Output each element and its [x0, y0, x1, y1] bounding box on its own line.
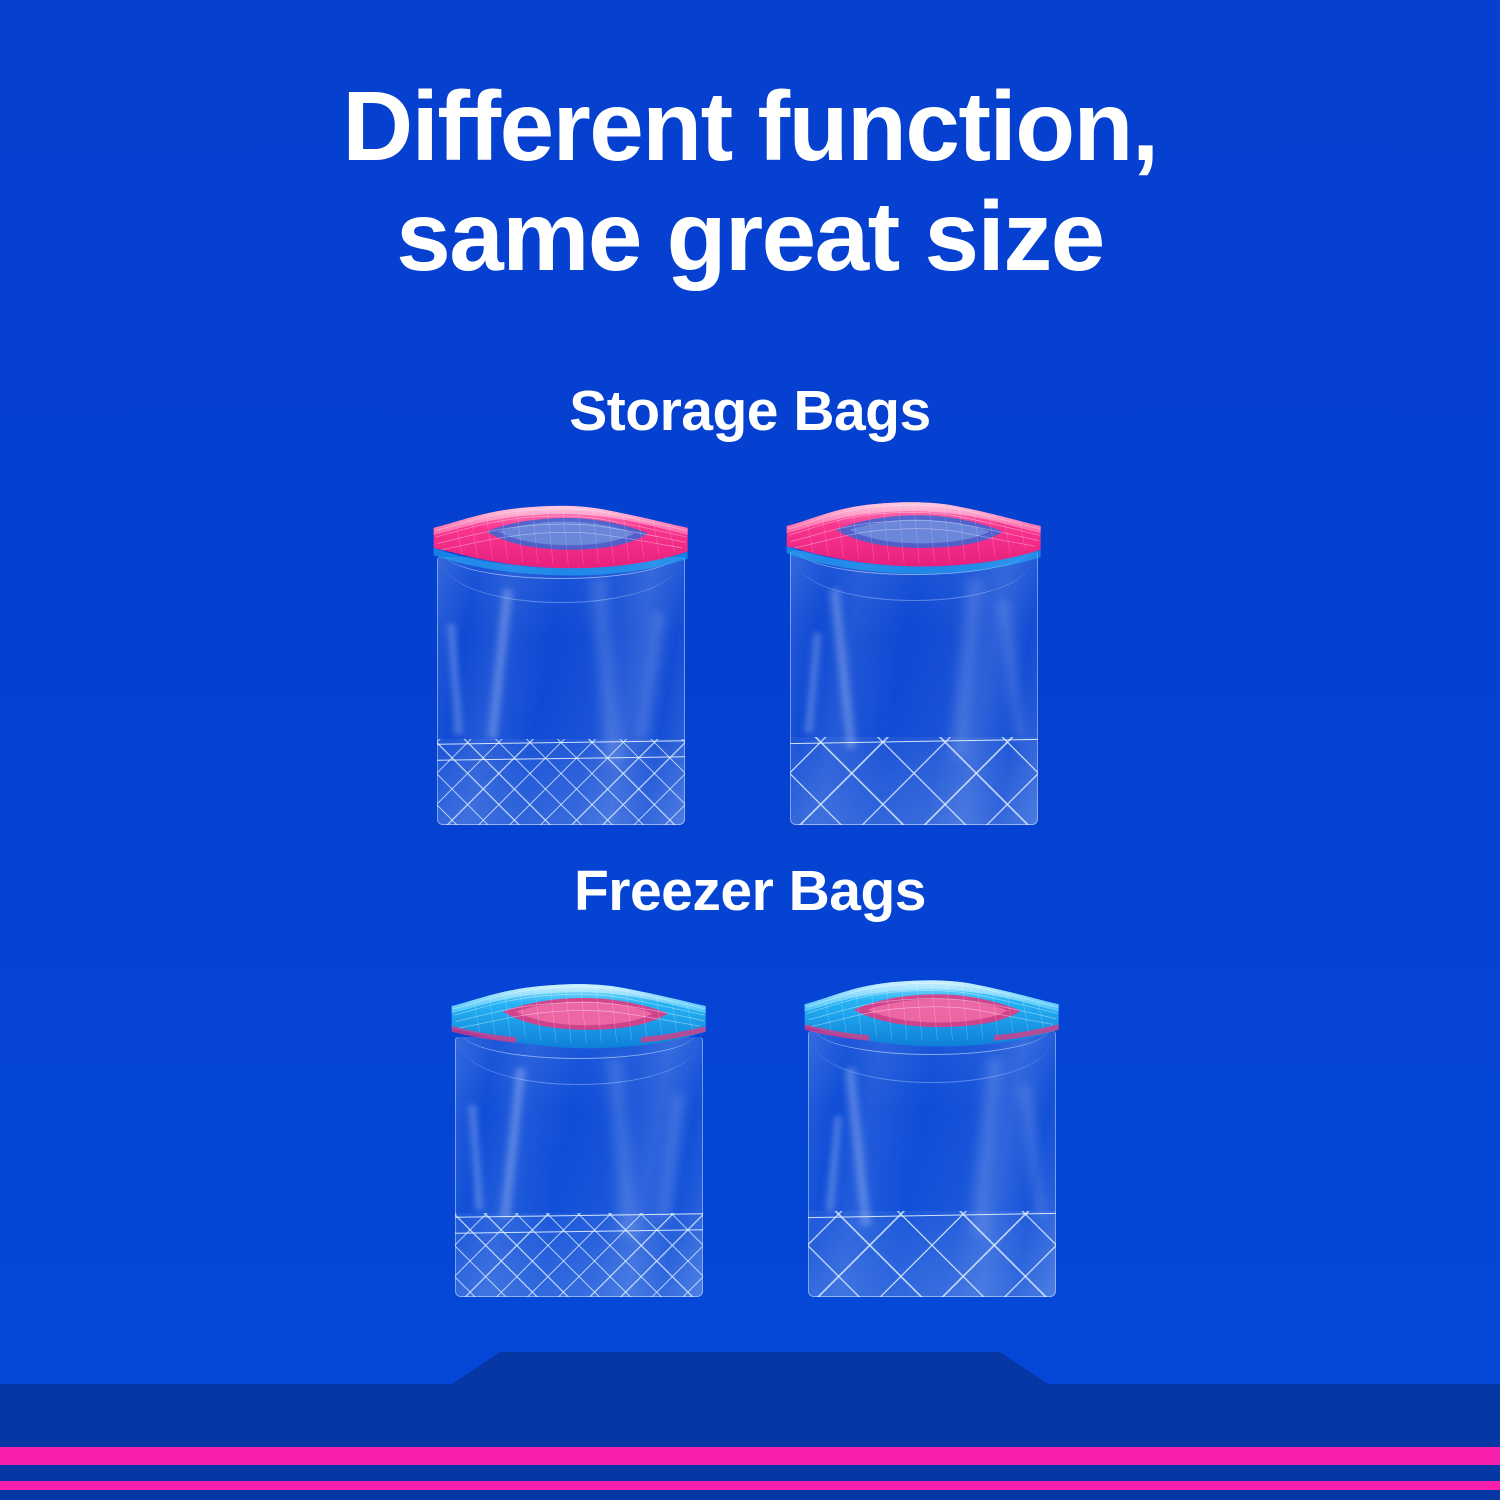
write-on-panel [455, 1213, 703, 1297]
bag-wrinkle [484, 589, 516, 740]
headline-line-2: same great size [0, 182, 1500, 292]
bag-wrinkle [995, 600, 1030, 741]
bag-wrinkle [824, 1116, 844, 1212]
write-on-panel [808, 1211, 1056, 1297]
bag-wrinkle [966, 1057, 1007, 1237]
bag-wrinkle [497, 1068, 529, 1219]
bag-wrinkle [601, 1057, 643, 1239]
storage-bag-left [437, 495, 685, 825]
bag-wrinkle [653, 1093, 688, 1220]
bag-body [808, 1031, 1056, 1297]
section-label-storage: Storage Bags [0, 378, 1500, 444]
zipper-freezer [799, 975, 1064, 1059]
page-title: Different function, same great size [0, 72, 1500, 292]
headline-line-1: Different function, [0, 72, 1500, 182]
panel-crosshatch-pattern [808, 1211, 1056, 1297]
bag-wrinkle [826, 589, 859, 750]
panel-crosshatch-pattern [790, 737, 1038, 825]
bag-wrinkle [803, 633, 824, 734]
storage-bags-row [0, 495, 1500, 840]
freezer-bags-row [0, 975, 1500, 1305]
zipper-freezer [446, 975, 711, 1059]
freezer-bag-right [808, 975, 1056, 1297]
bag-body [437, 557, 685, 825]
bag-body [790, 551, 1038, 825]
bag-wrinkle [842, 1068, 874, 1227]
zipper-storage [781, 495, 1046, 579]
panel-crosshatch-pattern [455, 1213, 703, 1297]
footer-band [0, 1384, 1500, 1500]
bag-wrinkle [631, 610, 669, 742]
product-comparison-image: Different function, same great size Stor… [0, 0, 1500, 1500]
section-label-freezer: Freezer Bags [0, 858, 1500, 924]
footer-trapezoid-shape [0, 1352, 1500, 1384]
bag-wrinkle [946, 578, 988, 760]
bag-wrinkle [446, 624, 466, 735]
footer-stripe-thin [0, 1481, 1500, 1490]
bag-wrinkle [585, 578, 627, 765]
panel-crosshatch-pattern [437, 739, 685, 825]
freezer-bag-left [455, 975, 703, 1297]
footer-stripe-thick [0, 1447, 1500, 1465]
storage-bag-right [790, 495, 1038, 825]
bag-body [455, 1037, 703, 1297]
bag-wrinkle [1016, 1084, 1050, 1220]
write-on-panel [790, 737, 1038, 825]
bag-wrinkle [466, 1104, 485, 1210]
write-on-panel [437, 739, 685, 825]
zipper-storage [428, 495, 693, 579]
